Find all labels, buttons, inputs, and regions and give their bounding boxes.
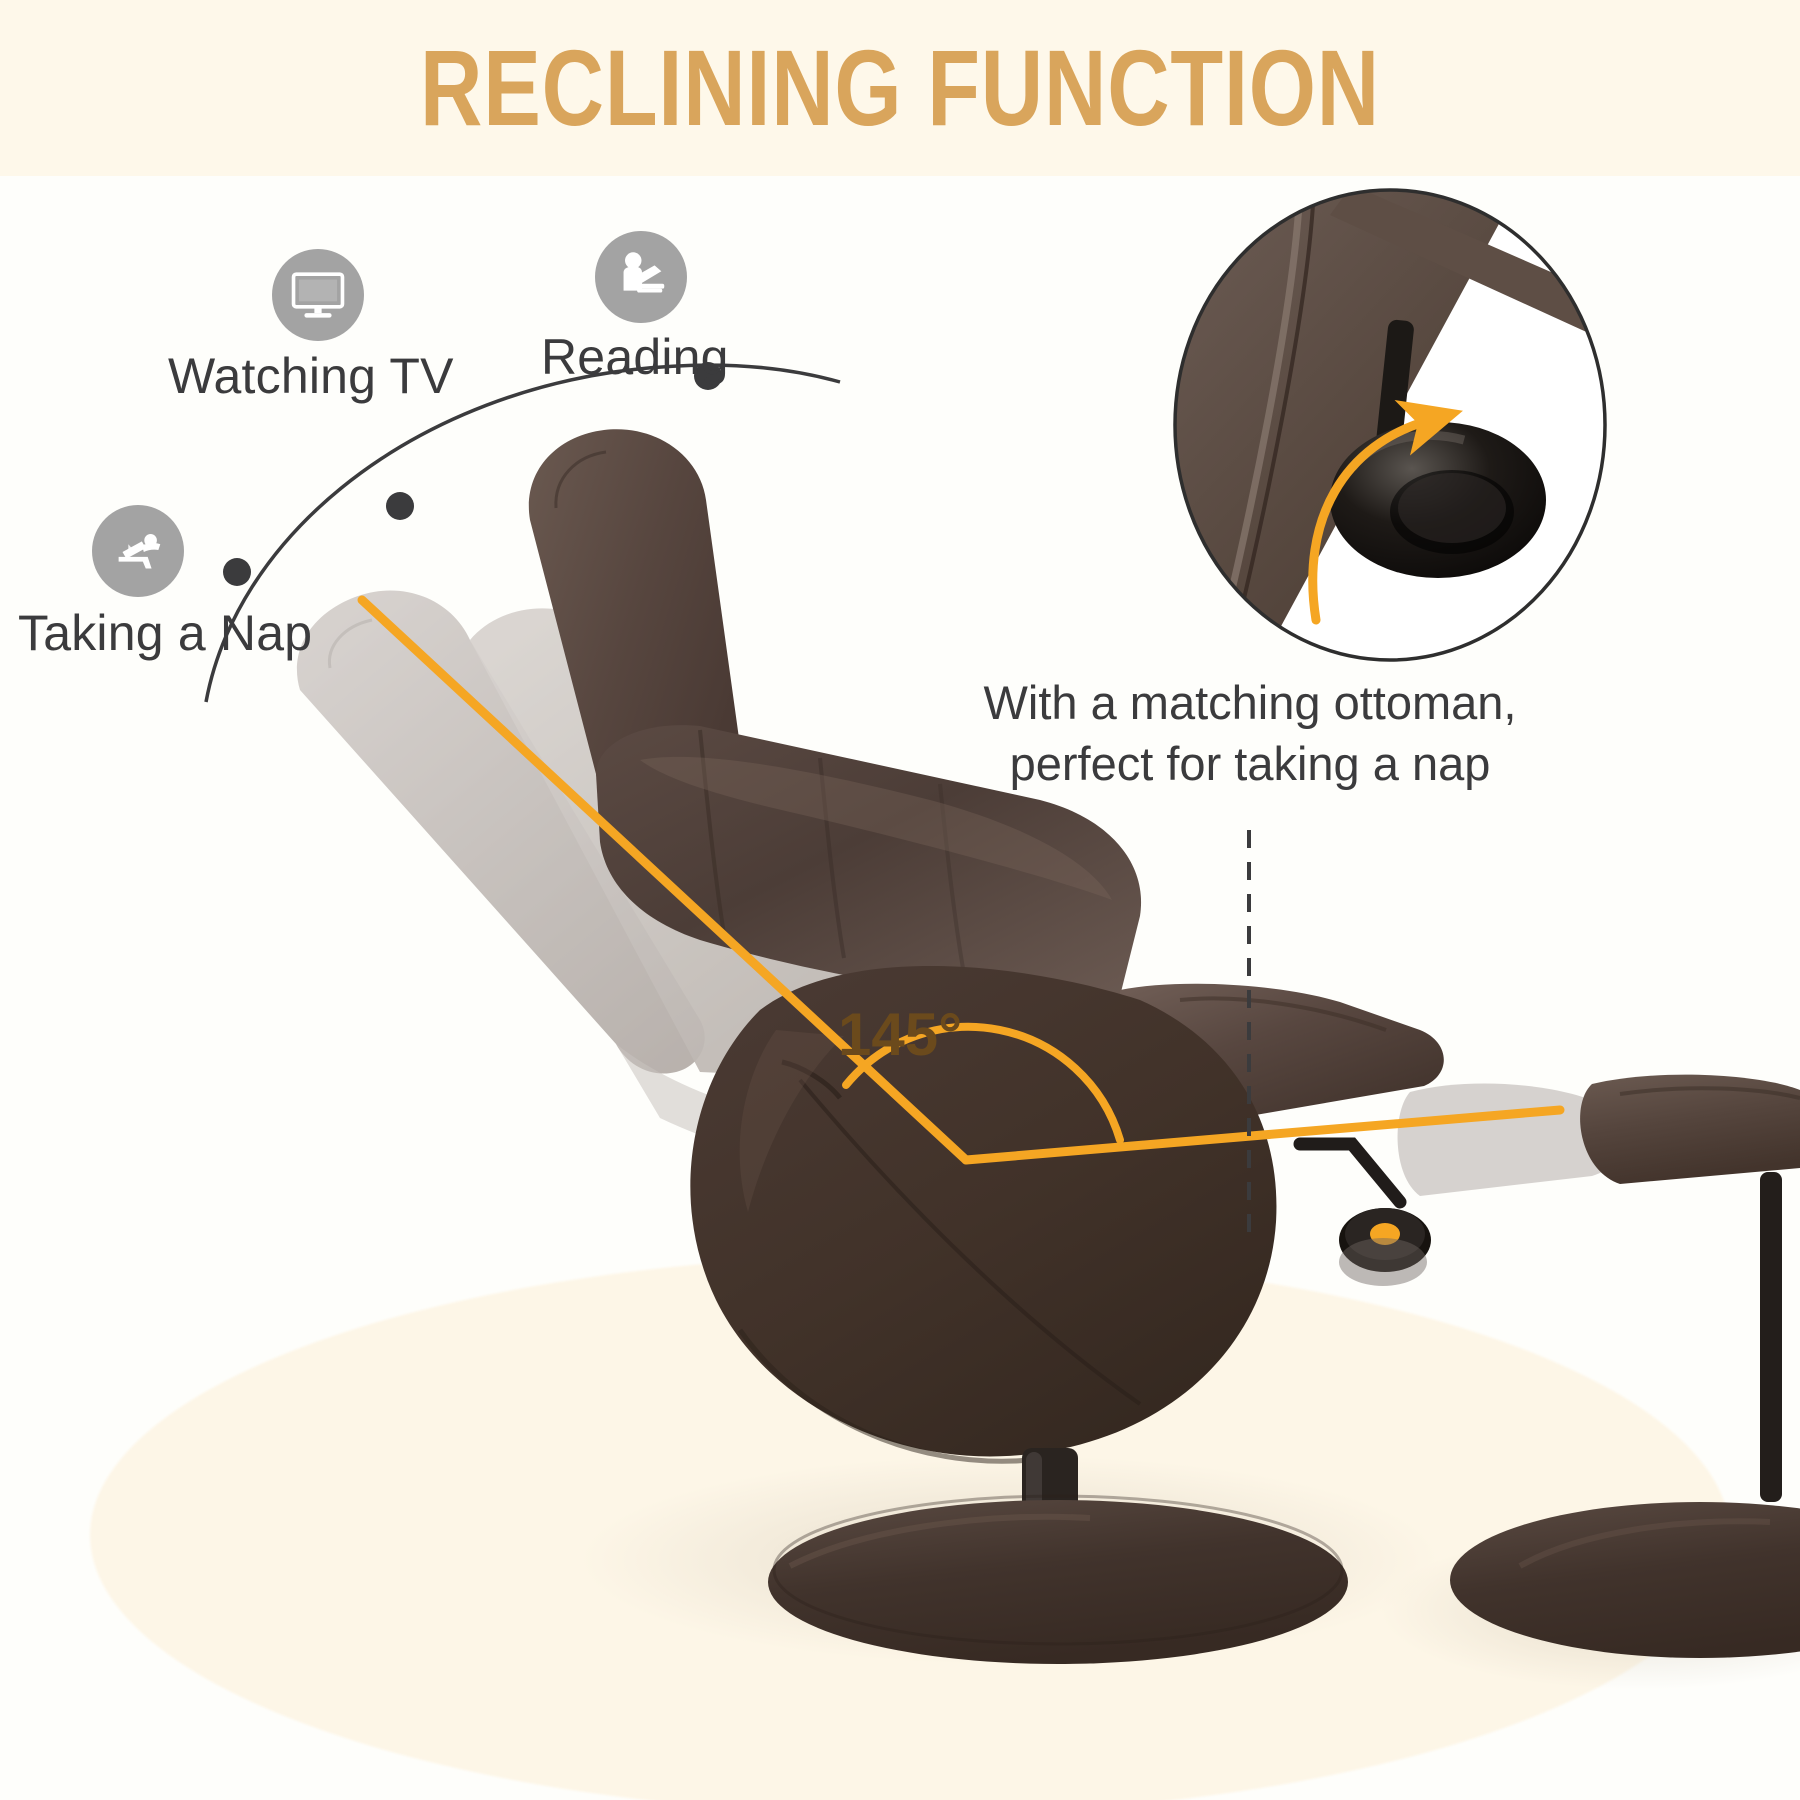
ottoman-caption: With a matching ottoman, perfect for tak… [940, 672, 1560, 794]
ottoman-caption-line-2: perfect for taking a nap [940, 733, 1560, 794]
infographic-canvas: RECLINING FUNCTION [0, 0, 1800, 1800]
knob-detail-inset [0, 0, 1800, 1800]
ottoman-caption-line-1: With a matching ottoman, [940, 672, 1560, 733]
